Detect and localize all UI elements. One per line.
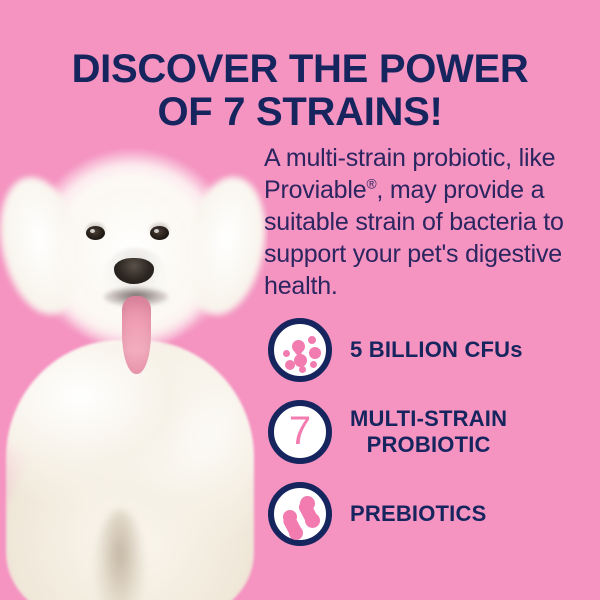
molecule-node: [305, 513, 320, 528]
dog-eye-left: [86, 226, 105, 240]
feature-item: 7 MULTI-STRAIN PROBIOTIC: [268, 400, 523, 464]
bacteria-dot: [299, 366, 306, 373]
dog-eye-right: [150, 226, 169, 240]
molecule-node: [300, 496, 315, 511]
bacteria-dot: [308, 336, 316, 344]
numeral-7-text: 7: [274, 406, 326, 458]
feature-label: 5 BILLION CFUs: [350, 337, 523, 363]
dog-illustration: [0, 130, 268, 600]
body-copy: A multi-strain probiotic, like Proviable…: [264, 142, 564, 302]
feature-list: 5 BILLION CFUs 7 MULTI-STRAIN PROBIOTIC …: [268, 318, 523, 564]
registered-mark: ®: [366, 177, 376, 192]
bacteria-dot: [294, 354, 307, 367]
bacteria-dots-icon: [268, 318, 332, 382]
promo-poster: DISCOVER THE POWER OF 7 STRAINS! A multi…: [0, 0, 600, 600]
bacteria-dot: [283, 350, 290, 357]
numeral-7-icon: 7: [268, 400, 332, 464]
headline-line-2: OF 7 STRAINS!: [0, 91, 600, 134]
prebiotic-molecule-icon: [268, 482, 332, 546]
feature-item: 5 BILLION CFUs: [268, 318, 523, 382]
feature-label: PREBIOTICS: [350, 501, 486, 527]
dog-tongue: [122, 296, 151, 374]
headline-line-1: DISCOVER THE POWER: [0, 48, 600, 91]
bacteria-dot: [309, 347, 321, 359]
molecule-node: [289, 526, 303, 540]
headline: DISCOVER THE POWER OF 7 STRAINS!: [0, 48, 600, 134]
feature-item: PREBIOTICS: [268, 482, 523, 546]
dog-photo: [0, 130, 268, 600]
bacteria-dot: [310, 361, 317, 368]
molecule-node: [283, 510, 297, 524]
bacteria-dot: [285, 360, 295, 370]
feature-label: MULTI-STRAIN PROBIOTIC: [350, 406, 507, 458]
